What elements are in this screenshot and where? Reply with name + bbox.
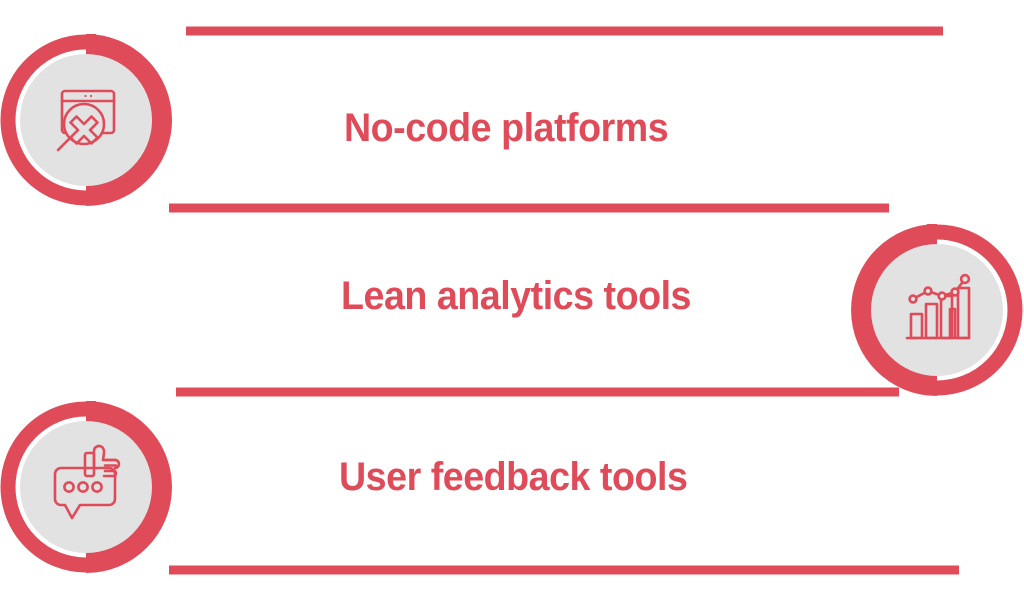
badge-ring-cap-top-row-0: [86, 34, 96, 56]
row-label-lean-analytics-tools: Lean analytics tools: [341, 276, 691, 316]
badge-disc-row-2: [20, 421, 152, 553]
badge-row-1[interactable]: [851, 224, 1015, 396]
connector-line-row-1: [169, 204, 889, 213]
connector-line-row-0: [186, 27, 943, 36]
badge-ring-cap-top-row-2: [86, 401, 96, 423]
badge-ring-cap-top-row-1: [927, 224, 937, 246]
row-label-no-code-platforms: No-code platforms: [344, 108, 668, 148]
row-label-user-feedback-tools: User feedback tools: [339, 457, 687, 497]
diagram-root: No-code platforms Lean analytics tools U…: [0, 0, 1024, 602]
connector-line-row-2: [176, 388, 899, 397]
badge-row-2[interactable]: [8, 401, 172, 573]
connector-line-bottom: [169, 566, 959, 575]
badge-row-0[interactable]: [8, 34, 172, 206]
